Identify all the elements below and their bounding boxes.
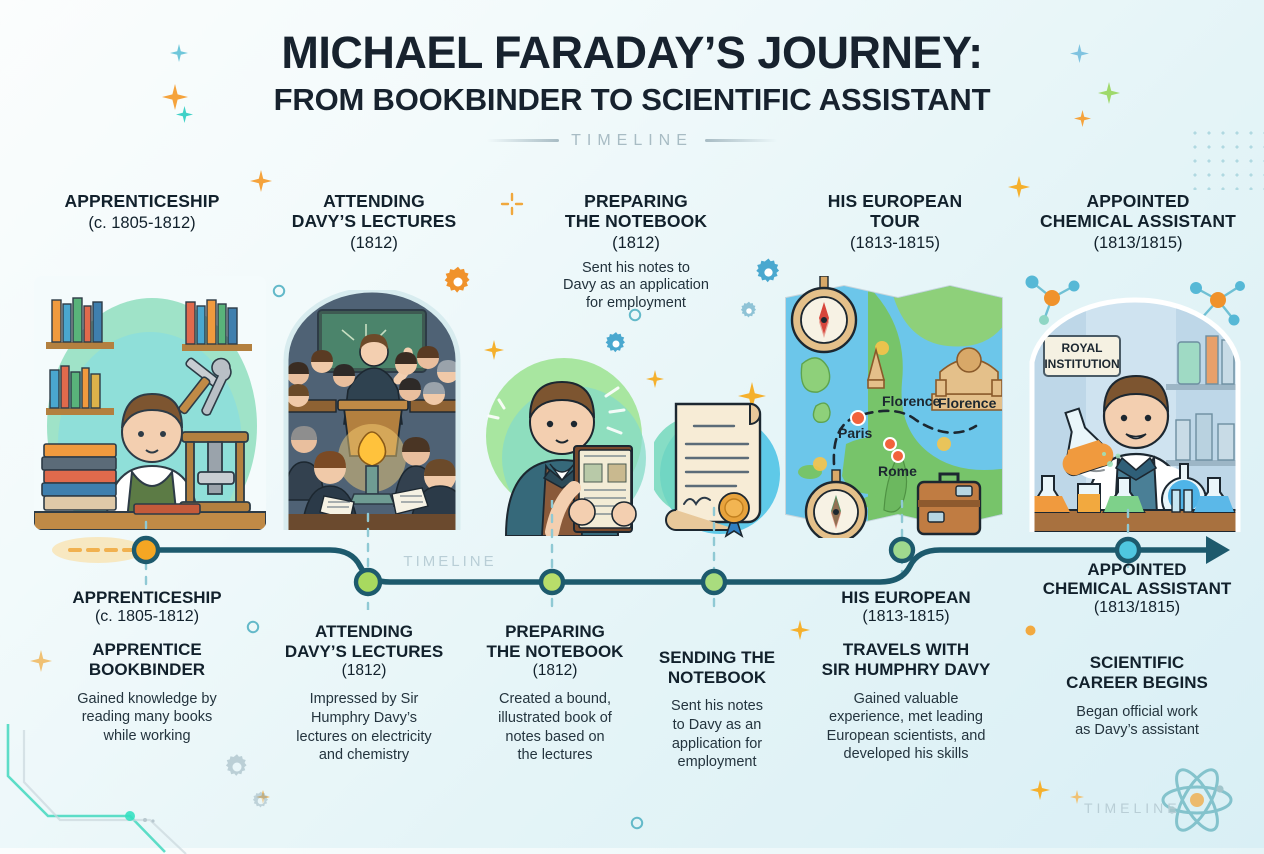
bottom-stage-6-stage-years: (1813/1815) bbox=[1012, 599, 1262, 617]
top-stage-1-heading: APPRENTICESHIP bbox=[22, 192, 262, 212]
top-stage-3: PREPARINGTHE NOTEBOOK (1812) Sent his no… bbox=[528, 192, 744, 313]
header-timeline-label: TIMELINE bbox=[0, 132, 1264, 150]
top-stage-4-heading: HIS EUROPEANTOUR bbox=[790, 192, 1000, 232]
map-label-rome: Rome bbox=[878, 463, 917, 479]
top-stage-5-years: (1813/1815) bbox=[1014, 234, 1262, 253]
bottom-stage-6-stage-title: APPOINTEDCHEMICAL ASSISTANT bbox=[1012, 560, 1262, 598]
bottom-stage-5-stage-title: HIS EUROPEAN bbox=[800, 588, 1012, 607]
circle-outline-decoration bbox=[630, 816, 644, 830]
illustration-bookbinder-workshop bbox=[34, 276, 266, 530]
bottom-stage-1-title: APPRENTICEBOOKBINDER bbox=[34, 640, 260, 679]
top-stage-1: APPRENTICESHIP (c. 1805-1812) bbox=[22, 192, 262, 233]
bottom-stage-6: APPOINTEDCHEMICAL ASSISTANT (1813/1815) … bbox=[1012, 560, 1262, 740]
top-stage-2-heading: ATTENDINGDAVY’S LECTURES bbox=[266, 192, 482, 232]
plus-dash-decoration bbox=[500, 192, 524, 216]
top-stage-5-heading: APPOINTEDCHEMICAL ASSISTANT bbox=[1014, 192, 1262, 232]
bottom-stage-2-title: ATTENDINGDAVY’S LECTURES bbox=[264, 622, 464, 661]
bottom-stage-5: HIS EUROPEAN (1813-1815) TRAVELS WITHSIR… bbox=[800, 588, 1012, 764]
top-stage-2: ATTENDINGDAVY’S LECTURES (1812) bbox=[266, 192, 482, 253]
bottom-stage-4-desc: Sent his notesto Davy as anapplication f… bbox=[640, 697, 794, 771]
bottom-stage-2: ATTENDINGDAVY’S LECTURES (1812) Impresse… bbox=[264, 622, 464, 765]
timeline-node-3 bbox=[541, 571, 563, 593]
bottom-stage-5-desc: Gained valuableexperience, met leadingEu… bbox=[800, 690, 1012, 764]
map-label-florence-2: Florence bbox=[938, 395, 997, 411]
bottom-stage-4-title: SENDING THENOTEBOOK bbox=[640, 648, 794, 687]
page-title-line2: FROM BOOKBINDER TO SCIENTIFIC ASSISTANT bbox=[0, 82, 1264, 118]
sparkle-icon bbox=[1030, 780, 1050, 800]
illustration-royal-institution-lab: ROYAL INSTITUTION bbox=[1026, 288, 1244, 532]
illustration-europe-map: Paris Florence Florence Rome bbox=[772, 276, 1016, 538]
footer-timeline-watermark: TIMELINE bbox=[1084, 800, 1181, 816]
bottom-stage-3: PREPARINGTHE NOTEBOOK (1812) Created a b… bbox=[470, 622, 640, 765]
top-stage-1-years: (c. 1805-1812) bbox=[22, 214, 262, 233]
timeline-node-2 bbox=[356, 570, 380, 594]
bottom-stage-1-stage-title: APPRENTICESHIP bbox=[34, 588, 260, 607]
bottom-stage-1: APPRENTICESHIP (c. 1805-1812) APPRENTICE… bbox=[34, 588, 260, 745]
illustration-lecture-hall bbox=[282, 290, 462, 530]
timeline-node-5 bbox=[891, 539, 913, 561]
bottom-stage-1-desc: Gained knowledge byreading many bookswhi… bbox=[34, 690, 260, 746]
bottom-stage-4: SENDING THENOTEBOOK Sent his notesto Dav… bbox=[640, 648, 794, 772]
bottom-stage-2-years: (1812) bbox=[264, 662, 464, 680]
gear-icon bbox=[250, 790, 272, 812]
top-stage-3-note: Sent his notes toDavy as an applicationf… bbox=[528, 260, 744, 313]
top-stage-4-years: (1813-1815) bbox=[790, 234, 1000, 253]
gear-icon bbox=[222, 752, 252, 782]
header: MICHAEL FARADAY’S JOURNEY: FROM BOOKBIND… bbox=[0, 30, 1264, 150]
sparkle-icon bbox=[250, 170, 272, 192]
rule-left bbox=[487, 139, 559, 142]
bottom-stage-6-desc: Began official workas Davy’s assistant bbox=[1012, 703, 1262, 740]
timeline-node-4 bbox=[703, 571, 725, 593]
top-stage-3-heading: PREPARINGTHE NOTEBOOK bbox=[528, 192, 744, 232]
bottom-stage-6-title: SCIENTIFICCAREER BEGINS bbox=[1012, 653, 1262, 692]
map-label-florence-1: Florence bbox=[882, 393, 941, 409]
bottom-stage-5-stage-years: (1813-1815) bbox=[800, 608, 1012, 626]
rule-right bbox=[705, 139, 777, 142]
bottom-stage-2-desc: Impressed by SirHumphry Davy’slectures o… bbox=[264, 690, 464, 764]
bottom-stage-3-years: (1812) bbox=[470, 662, 640, 680]
lab-sign-line1: ROYAL bbox=[1062, 341, 1103, 355]
timeline-node-1 bbox=[134, 538, 158, 562]
timeline-node-6 bbox=[1117, 539, 1139, 561]
bottom-stage-5-title: TRAVELS WITHSIR HUMPHRY DAVY bbox=[800, 640, 1012, 679]
bottom-stage-1-stage-years: (c. 1805-1812) bbox=[34, 608, 260, 626]
top-stage-3-years: (1812) bbox=[528, 234, 744, 253]
top-stage-5: APPOINTEDCHEMICAL ASSISTANT (1813/1815) bbox=[1014, 192, 1262, 253]
timeline-word: TIMELINE bbox=[571, 132, 693, 150]
page-title-line1: MICHAEL FARADAY’S JOURNEY: bbox=[0, 30, 1264, 76]
axis-timeline-watermark: TIMELINE bbox=[403, 553, 496, 570]
lab-sign-line2: INSTITUTION bbox=[1044, 357, 1119, 371]
sparkle-icon bbox=[1070, 790, 1084, 804]
infographic-canvas: TIMELINE MICHAEL FARADAY’S JOURNEY: FROM… bbox=[0, 0, 1264, 848]
bottom-stage-3-title: PREPARINGTHE NOTEBOOK bbox=[470, 622, 640, 661]
top-stage-2-years: (1812) bbox=[266, 234, 482, 253]
map-label-paris: Paris bbox=[838, 425, 872, 441]
top-stage-4: HIS EUROPEANTOUR (1813-1815) bbox=[790, 192, 1000, 253]
bottom-stage-3-desc: Created a bound,illustrated book ofnotes… bbox=[470, 690, 640, 764]
